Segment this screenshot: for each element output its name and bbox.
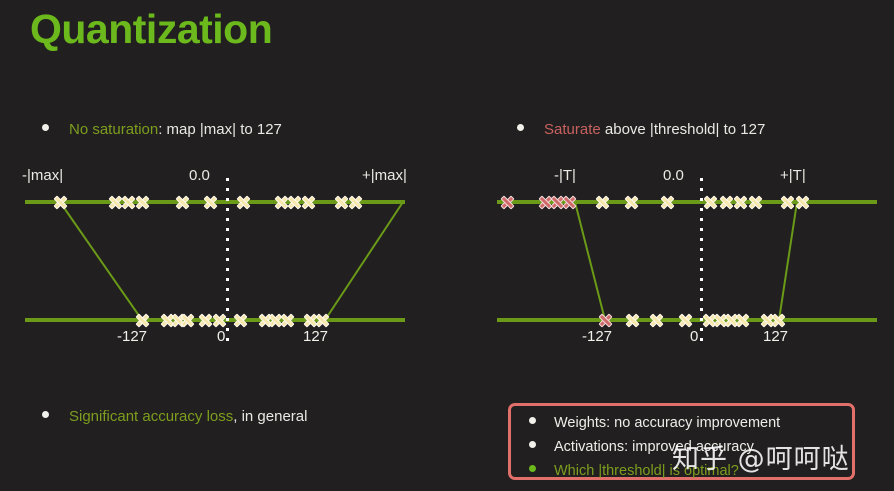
value-marker [135, 195, 150, 210]
label-bottom-right: 127 [303, 328, 328, 345]
value-marker [198, 313, 213, 328]
bullet-dot-icon [529, 417, 536, 424]
value-marker [203, 195, 218, 210]
value-marker [649, 313, 664, 328]
value-marker [625, 313, 640, 328]
label-top-right: +|max| [362, 167, 407, 184]
label-top-right: +|T| [780, 167, 806, 184]
value-marker [735, 313, 750, 328]
value-marker [53, 195, 68, 210]
value-marker [175, 195, 190, 210]
label-top-left: -|T| [554, 167, 576, 184]
diagram-no-saturation: -|max| 0.0 +|max| -127 0 127 [25, 160, 435, 355]
mapping-connector-lines [25, 160, 435, 355]
value-marker [180, 313, 195, 328]
value-marker [733, 195, 748, 210]
value-marker [121, 195, 136, 210]
value-marker [280, 313, 295, 328]
bullet-no-saturation: No saturation: map |max| to 127 [42, 121, 282, 138]
value-marker [598, 313, 613, 328]
value-marker [562, 195, 577, 210]
box-item-weights: Weights: no accuracy improvement [529, 415, 780, 431]
value-marker [719, 195, 734, 210]
value-marker [780, 195, 795, 210]
value-marker [212, 313, 227, 328]
label-top-center: 0.0 [663, 167, 684, 184]
bullet-dot-icon [517, 124, 524, 131]
value-marker [795, 195, 810, 210]
bullet-dot-icon [42, 411, 49, 418]
bullet-significant-loss-emphasis: Significant accuracy loss [69, 408, 233, 425]
value-marker [135, 313, 150, 328]
value-marker [233, 313, 248, 328]
page-title: Quantization [30, 6, 272, 53]
label-bottom-center: 0 [217, 328, 225, 345]
value-marker [334, 195, 349, 210]
bullet-significant-loss-rest: , in general [233, 408, 307, 425]
value-marker [500, 195, 515, 210]
label-top-left: -|max| [22, 167, 63, 184]
diagram-saturate: -|T| 0.0 +|T| -127 0 127 [497, 160, 894, 355]
value-marker [771, 313, 786, 328]
value-marker [236, 195, 251, 210]
bullet-saturate: Saturate above |threshold| to 127 [517, 121, 765, 138]
mapping-connector-lines [497, 160, 894, 355]
bullet-no-saturation-emphasis: No saturation [69, 121, 158, 138]
value-marker [348, 195, 363, 210]
slide-canvas: Quantization No saturation: map |max| to… [0, 0, 894, 491]
label-bottom-left: -127 [117, 328, 147, 345]
value-marker [315, 313, 330, 328]
value-marker [703, 195, 718, 210]
label-bottom-right: 127 [763, 328, 788, 345]
bullet-no-saturation-rest: : map |max| to 127 [158, 121, 282, 138]
bullet-significant-loss: Significant accuracy loss, in general [42, 408, 307, 425]
label-bottom-center: 0 [690, 328, 698, 345]
bullet-dot-icon [529, 465, 536, 472]
value-marker [624, 195, 639, 210]
bullet-dot-icon [42, 124, 49, 131]
bullet-saturate-emphasis: Saturate [544, 121, 601, 138]
label-bottom-left: -127 [582, 328, 612, 345]
value-marker [595, 195, 610, 210]
bullet-dot-icon [529, 441, 536, 448]
box-item-weights-label: Weights: no accuracy improvement [554, 415, 780, 431]
value-marker [301, 195, 316, 210]
watermark: 知乎 @呵呵哒 [672, 437, 850, 476]
label-top-center: 0.0 [189, 167, 210, 184]
bullet-saturate-rest: above |threshold| to 127 [601, 121, 766, 138]
value-marker [748, 195, 763, 210]
value-marker [678, 313, 693, 328]
value-marker [660, 195, 675, 210]
value-marker [287, 195, 302, 210]
